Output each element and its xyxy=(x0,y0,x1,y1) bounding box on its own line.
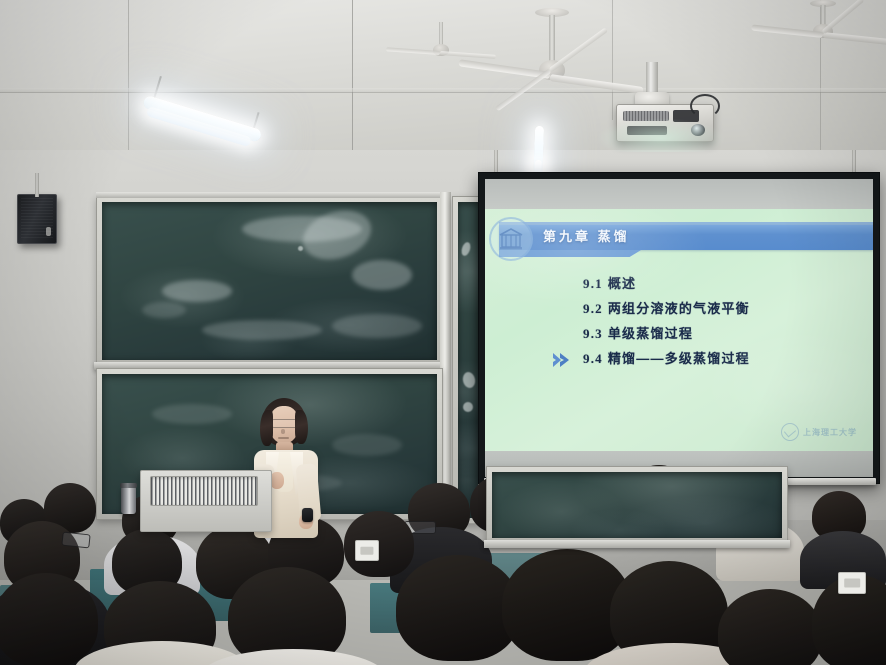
desk-row-3 xyxy=(0,585,70,645)
chalkboard-left xyxy=(96,196,443,366)
screen-canvas: 第九章 蒸馏 9.1概述 9.2两组分溶液的气液平衡 9.3单级蒸馏过程 xyxy=(485,179,873,477)
slide-item-3-label: 单级蒸馏过程 xyxy=(608,326,693,341)
projection-screen: 第九章 蒸馏 9.1概述 9.2两组分溶液的气液平衡 9.3单级蒸馏过程 xyxy=(478,172,880,484)
water-thermos xyxy=(121,487,136,514)
slide-item-1: 9.1概述 xyxy=(485,271,873,296)
student-head-front xyxy=(0,573,98,665)
speaker-bracket xyxy=(35,173,39,197)
slide-outline-list: 9.1概述 9.2两组分溶液的气液平衡 9.3单级蒸馏过程 xyxy=(485,271,873,371)
slide-item-4-label: 精馏——多级蒸馏过程 xyxy=(608,351,750,366)
slide-item-4-number: 9.4 xyxy=(583,351,603,366)
ceiling-fan-right xyxy=(748,0,886,62)
double-chevron-icon xyxy=(551,351,573,367)
chalkboard-ledge-right xyxy=(484,540,790,548)
slide-item-3: 9.3单级蒸馏过程 xyxy=(485,321,873,346)
slide-title: 第九章 蒸馏 xyxy=(543,226,630,245)
student-head-front xyxy=(718,589,822,665)
slide-item-2: 9.2两组分溶液的气液平衡 xyxy=(485,296,873,321)
podium-grille xyxy=(150,476,258,506)
lecturer-hair-side-right xyxy=(295,410,308,444)
university-seal-icon xyxy=(489,217,533,261)
lecturer-hand-raised xyxy=(270,472,284,489)
student-shoulders-front xyxy=(200,649,386,665)
chalkboard-top-rail xyxy=(96,192,441,198)
student-shoulders-front xyxy=(74,641,250,665)
slide-item-2-label: 两组分溶液的气液平衡 xyxy=(608,301,750,316)
student-shoulders xyxy=(0,581,110,665)
wall-speaker xyxy=(17,194,57,244)
slide-item-1-label: 概述 xyxy=(608,276,636,291)
wall-power-outlet-right xyxy=(838,572,866,594)
slide-item-2-number: 9.2 xyxy=(583,301,603,316)
lecturer-hair-side xyxy=(260,410,273,446)
student-head-front xyxy=(228,567,346,665)
university-logo-icon xyxy=(781,423,799,441)
presentation-clicker xyxy=(302,508,313,522)
lecture-hall-photo: 第九章 蒸馏 9.1概述 9.2两组分溶液的气液平衡 9.3单级蒸馏过程 xyxy=(0,0,886,665)
wall-power-outlet xyxy=(355,540,379,561)
projector-lens xyxy=(691,124,705,136)
slide-content: 第九章 蒸馏 9.1概述 9.2两组分溶液的气液平衡 9.3单级蒸馏过程 xyxy=(485,209,873,451)
slide-item-4: 9.4精馏——多级蒸馏过程 xyxy=(485,346,873,371)
student-head-front xyxy=(104,581,216,665)
projector-cable xyxy=(690,94,720,118)
slide-item-1-number: 9.1 xyxy=(583,276,603,291)
chalkboard-right xyxy=(486,466,788,544)
screen-top-margin xyxy=(485,179,873,209)
ceiling-fan-far-left xyxy=(386,22,496,82)
watermark-label: 上海理工大学 xyxy=(803,427,857,438)
chalkboard-surface xyxy=(102,202,437,360)
student-shoulders-front xyxy=(584,643,764,665)
desk-row-2 xyxy=(370,583,500,633)
slide-item-3-number: 9.3 xyxy=(583,326,603,341)
slide-watermark: 上海理工大学 xyxy=(781,423,857,441)
